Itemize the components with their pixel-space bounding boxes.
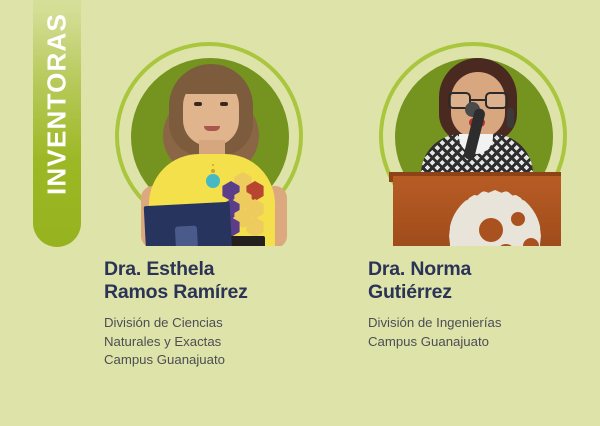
portrait-photo-1 — [387, 46, 561, 246]
person-name-1: Dra. Norma Gutiérrez — [368, 258, 586, 304]
person-card-1 — [360, 38, 586, 248]
caption-1: Dra. Norma Gutiérrez División de Ingenie… — [360, 258, 586, 370]
side-banner: INVENTORAS — [33, 0, 81, 247]
person-affiliation-1: División de Ingenierías Campus Guanajuat… — [368, 314, 586, 351]
poster-canvas: INVENTORAS — [0, 0, 600, 426]
person-name-0: Dra. Esthela Ramos Ramírez — [104, 258, 322, 304]
diploma-folder — [144, 202, 233, 246]
people-photo-row — [96, 38, 588, 248]
person-affiliation-0: División de Ciencias Naturales y Exactas… — [104, 314, 322, 370]
side-banner-label: INVENTORAS — [42, 13, 73, 195]
portrait-photo-0 — [123, 46, 297, 246]
caption-0: Dra. Esthela Ramos Ramírez División de C… — [96, 258, 322, 370]
photo-wrap-1 — [373, 38, 573, 248]
person-card-0 — [96, 38, 322, 248]
photo-wrap-0 — [109, 38, 309, 248]
people-caption-row: Dra. Esthela Ramos Ramírez División de C… — [96, 258, 588, 370]
